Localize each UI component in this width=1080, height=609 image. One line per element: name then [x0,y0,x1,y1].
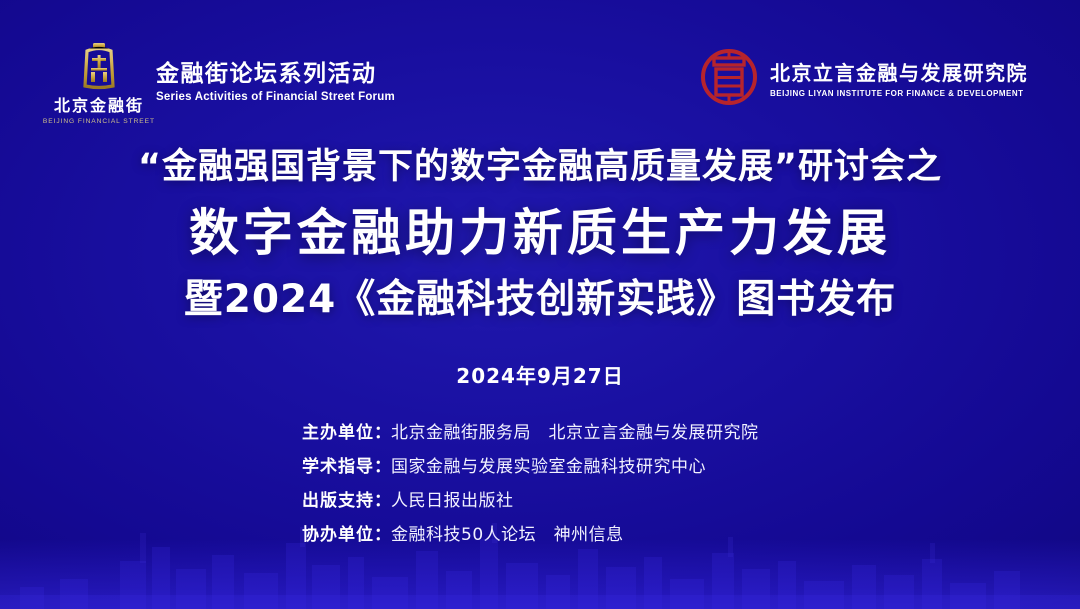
credit-value: 国家金融与发展实验室金融科技研究中心 [391,452,706,477]
credit-row: 主办单位 ： 北京金融街服务局 北京立言金融与发展研究院 [270,418,810,443]
bfs-mark-en: BEIJING FINANCIAL STREET [43,118,155,125]
title-line-1: “金融强国背景下的数字金融高质量发展”研讨会之 [0,146,1080,189]
round-seal-icon [700,48,758,106]
event-date: 2024年9月27日 [0,360,1080,389]
credit-value: 北京金融街服务局 北京立言金融与发展研究院 [391,418,759,443]
logo-liyan-institute: 北京立言金融与发展研究院 BEIJING LIYAN INSTITUTE FOR… [700,48,1028,106]
liyan-title-en: BEIJING LIYAN INSTITUTE FOR FINANCE & DE… [770,89,1028,98]
city-skyline-silhouette [0,499,1080,609]
credit-colon: ： [374,452,391,477]
forum-title-en: Series Activities of Financial Street Fo… [156,91,395,103]
banner-poster: 北京金融街 BEIJING FINANCIAL STREET 金融街论坛系列活动… [0,0,1080,609]
title-block: “金融强国背景下的数字金融高质量发展”研讨会之 数字金融助力新质生产力发展 暨2… [0,146,1080,323]
liyan-title-cn: 北京立言金融与发展研究院 [770,57,1028,86]
logo-beijing-financial-street: 北京金融街 BEIJING FINANCIAL STREET 金融街论坛系列活动… [56,42,395,125]
bell-seal-icon [78,42,120,90]
title-line-2-main: 数字金融助力新质生产力发展 [0,203,1080,263]
liyan-text-block: 北京立言金融与发展研究院 BEIJING LIYAN INSTITUTE FOR… [770,57,1028,98]
bfs-mark-cn: 北京金融街 [54,92,144,116]
credit-label: 学术指导 [270,452,374,477]
header: 北京金融街 BEIJING FINANCIAL STREET 金融街论坛系列活动… [0,0,1080,130]
credit-row: 学术指导 ： 国家金融与发展实验室金融科技研究中心 [270,452,810,477]
forum-title-cn: 金融街论坛系列活动 [156,54,395,88]
credit-colon: ： [374,418,391,443]
title-line-3-book-release: 暨2024《金融科技创新实践》图书发布 [0,277,1080,324]
credit-label: 主办单位 [270,418,374,443]
bfs-text-block: 金融街论坛系列活动 Series Activities of Financial… [156,42,395,103]
bfs-mark: 北京金融街 BEIJING FINANCIAL STREET [56,42,142,125]
